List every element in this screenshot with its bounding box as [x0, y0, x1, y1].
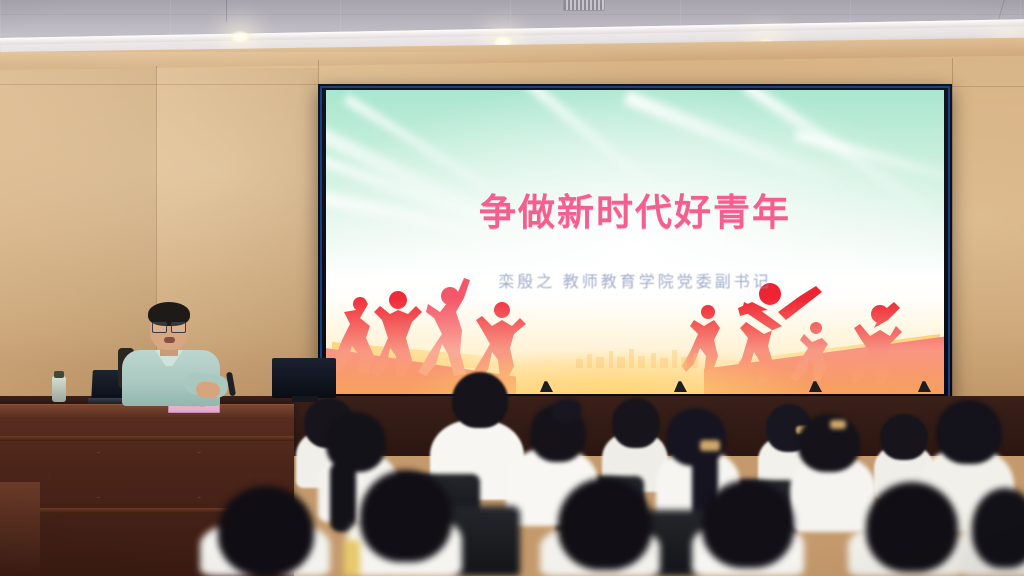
audience-body	[540, 524, 660, 576]
presenter-mouth	[164, 337, 175, 343]
confidence-monitor-stand	[292, 396, 318, 402]
hair-strand	[692, 452, 718, 528]
presenter-hand	[195, 381, 221, 399]
presenter-desk	[0, 404, 294, 576]
slide-skyline-silhouette	[573, 346, 709, 368]
light-ray-6	[623, 91, 851, 194]
audience-body	[790, 456, 876, 532]
audience-chair	[626, 510, 730, 576]
wall-vertical-seam-3	[952, 58, 953, 408]
audience-body	[318, 452, 398, 522]
audience-body	[692, 520, 804, 576]
desk-side-cabinet	[0, 482, 40, 576]
audience-body	[848, 522, 964, 576]
audience-head	[866, 482, 958, 572]
audience-head	[972, 488, 1024, 568]
water-bottle	[52, 376, 66, 402]
stage-mic-stand-1	[540, 380, 553, 392]
audience-head	[360, 470, 452, 562]
presenter-desk-rail-lower	[0, 508, 294, 513]
lecture-hall-screenshot: 争做新时代好青年 栾殷之 教师教育学院党委副书记 栾殷之	[0, 0, 1024, 576]
audience-chair	[390, 474, 480, 532]
audience-body	[960, 514, 1024, 576]
uniform-trim	[344, 540, 360, 576]
confidence-monitor	[272, 358, 336, 398]
audience-body	[656, 450, 740, 524]
audience-head	[702, 480, 794, 568]
wall-horizontal-seam-right	[952, 86, 1024, 87]
audience-chair	[556, 476, 644, 532]
audience-chair	[710, 480, 796, 536]
hair-strand	[330, 462, 356, 532]
audience-body	[920, 448, 1014, 532]
slide-title: 争做新时代好青年	[326, 182, 944, 236]
ceiling-vent-icon	[563, 0, 605, 11]
ceiling-seam-left	[226, 0, 227, 22]
audience-head	[558, 478, 652, 570]
audience-body	[346, 512, 462, 576]
water-bottle-cap-icon	[54, 371, 64, 378]
wall-vertical-seam-2	[318, 60, 319, 86]
audience-body	[506, 448, 598, 526]
led-screen[interactable]: 争做新时代好青年 栾殷之 教师教育学院党委副书记	[326, 90, 944, 394]
presenter-desk-rail-upper	[0, 436, 294, 441]
glasses-icon	[152, 322, 186, 331]
wall-horizontal-seam	[0, 84, 318, 85]
slide-subtitle: 栾殷之 教师教育学院党委副书记	[326, 268, 944, 292]
audience-chair	[414, 506, 520, 576]
downlight-1	[229, 30, 251, 44]
